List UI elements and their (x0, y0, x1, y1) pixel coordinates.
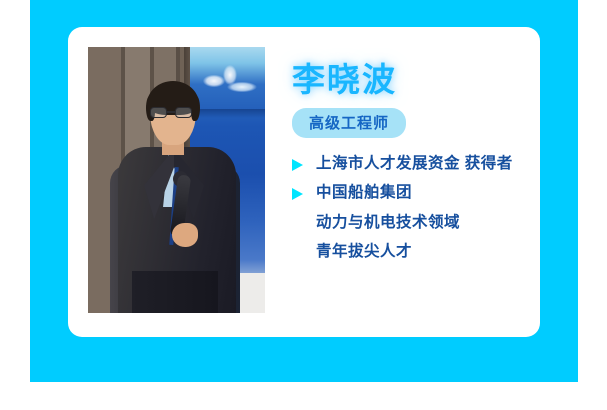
glasses-lens-right (175, 107, 192, 118)
photo-scene (88, 47, 265, 313)
list-item: 中国船舶集团 (292, 183, 524, 203)
credential-text: 青年拔尖人才 (316, 242, 412, 262)
profile-card: 李晓波 高级工程师 上海市人才发展资金 获得者 (68, 27, 540, 337)
speaker-trousers (132, 271, 218, 313)
profile-name: 李晓波 (292, 63, 524, 98)
profile-info: 李晓波 高级工程师 上海市人才发展资金 获得者 (292, 63, 524, 271)
credential-text: 中国船舶集团 (316, 183, 412, 203)
profile-card-stage: 李晓波 高级工程师 上海市人才发展资金 获得者 (0, 0, 607, 410)
projection-screen-image (192, 63, 262, 109)
glasses-icon (150, 107, 196, 119)
speaker-hand (172, 223, 198, 247)
glasses-lens-left (150, 107, 167, 118)
glasses-bridge (167, 111, 175, 113)
credential-text: 动力与机电技术领域 (316, 213, 460, 233)
list-item: 青年拔尖人才 (292, 242, 524, 262)
list-item: 动力与机电技术领域 (292, 213, 524, 233)
profile-title-badge: 高级工程师 (292, 108, 406, 138)
speaker-photo (88, 47, 265, 313)
list-item: 上海市人才发展资金 获得者 (292, 154, 524, 174)
credentials-list: 上海市人才发展资金 获得者 中国船舶集团 (292, 154, 524, 263)
triangle-bullet-icon (292, 154, 306, 171)
projection-screen-band (190, 109, 265, 118)
triangle-bullet-icon (292, 183, 306, 200)
credential-text: 上海市人才发展资金 获得者 (316, 154, 513, 174)
